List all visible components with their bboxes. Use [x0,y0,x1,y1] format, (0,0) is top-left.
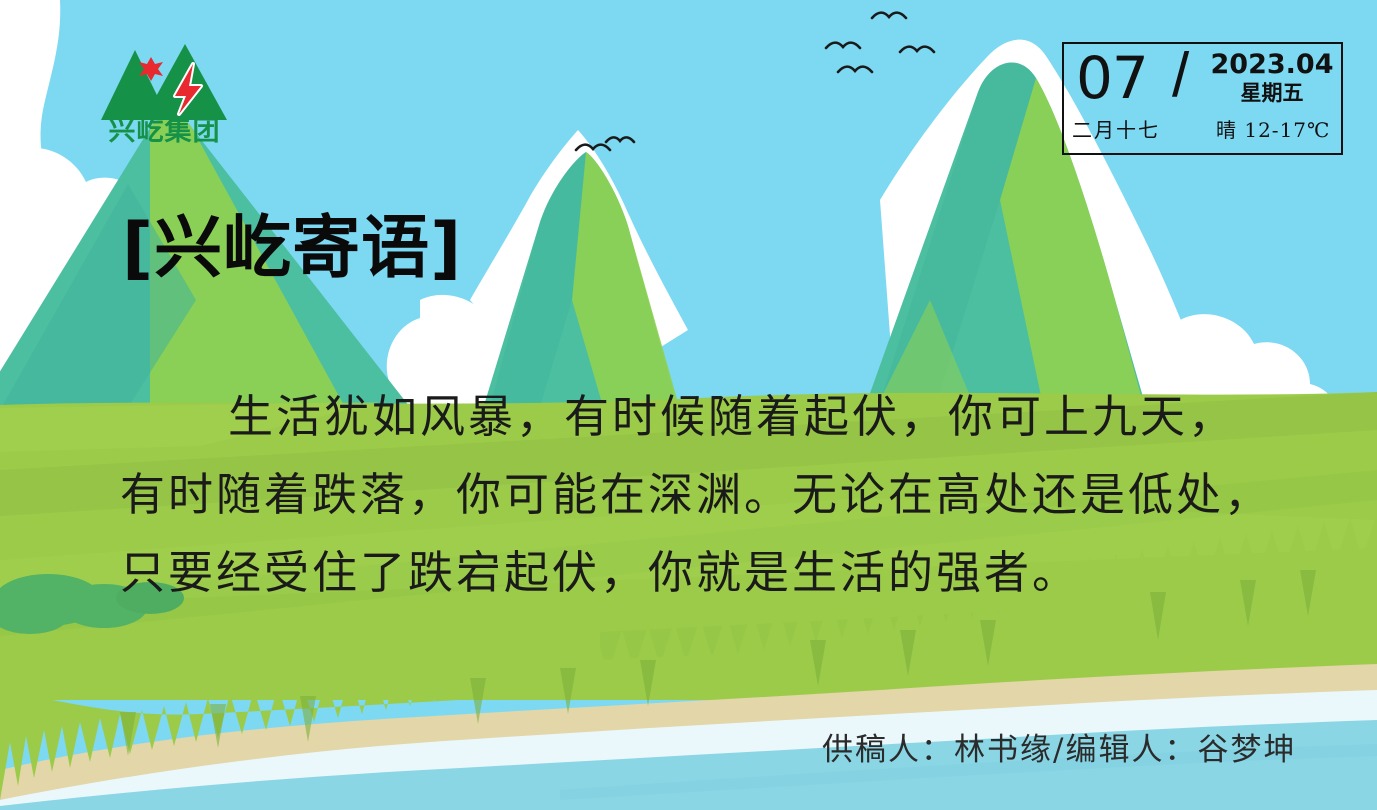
company-name: 兴屹集团 [97,118,232,145]
quote-line: 有时随着跌落，你可能在深渊。无论在高处还是低处， [120,456,1335,534]
date-card: 07 / 2023.04 星期五 二月十七 晴 12-17℃ [1062,42,1343,155]
date-lunar: 二月十七 [1072,118,1160,142]
quote-line: 生活犹如风暴，有时候随着起伏，你可上九天， [120,378,1335,456]
quote-body: 生活犹如风暴，有时候随着起伏，你可上九天， 有时随着跌落，你可能在深渊。无论在高… [120,378,1335,612]
daily-quote-poster: 兴屹集团 07 / 2023.04 星期五 二月十七 晴 12-17℃ [兴屹寄… [0,0,1377,810]
date-weekday: 星期五 [1204,81,1340,105]
date-day: 07 [1076,47,1148,109]
page-title: [兴屹寄语] [122,211,462,287]
quote-line: 只要经受住了跌宕起伏，你就是生活的强者。 [120,534,1335,612]
date-separator: / [1172,42,1189,110]
weather-info: 晴 12-17℃ [1216,118,1330,142]
company-logo[interactable]: 兴屹集团 [97,42,232,157]
date-year-month: 2023.04 [1204,50,1340,80]
mountain-logo-icon [97,42,232,122]
footer-credit: 供稿人：林书缘/编辑人：谷梦坤 [822,731,1296,769]
